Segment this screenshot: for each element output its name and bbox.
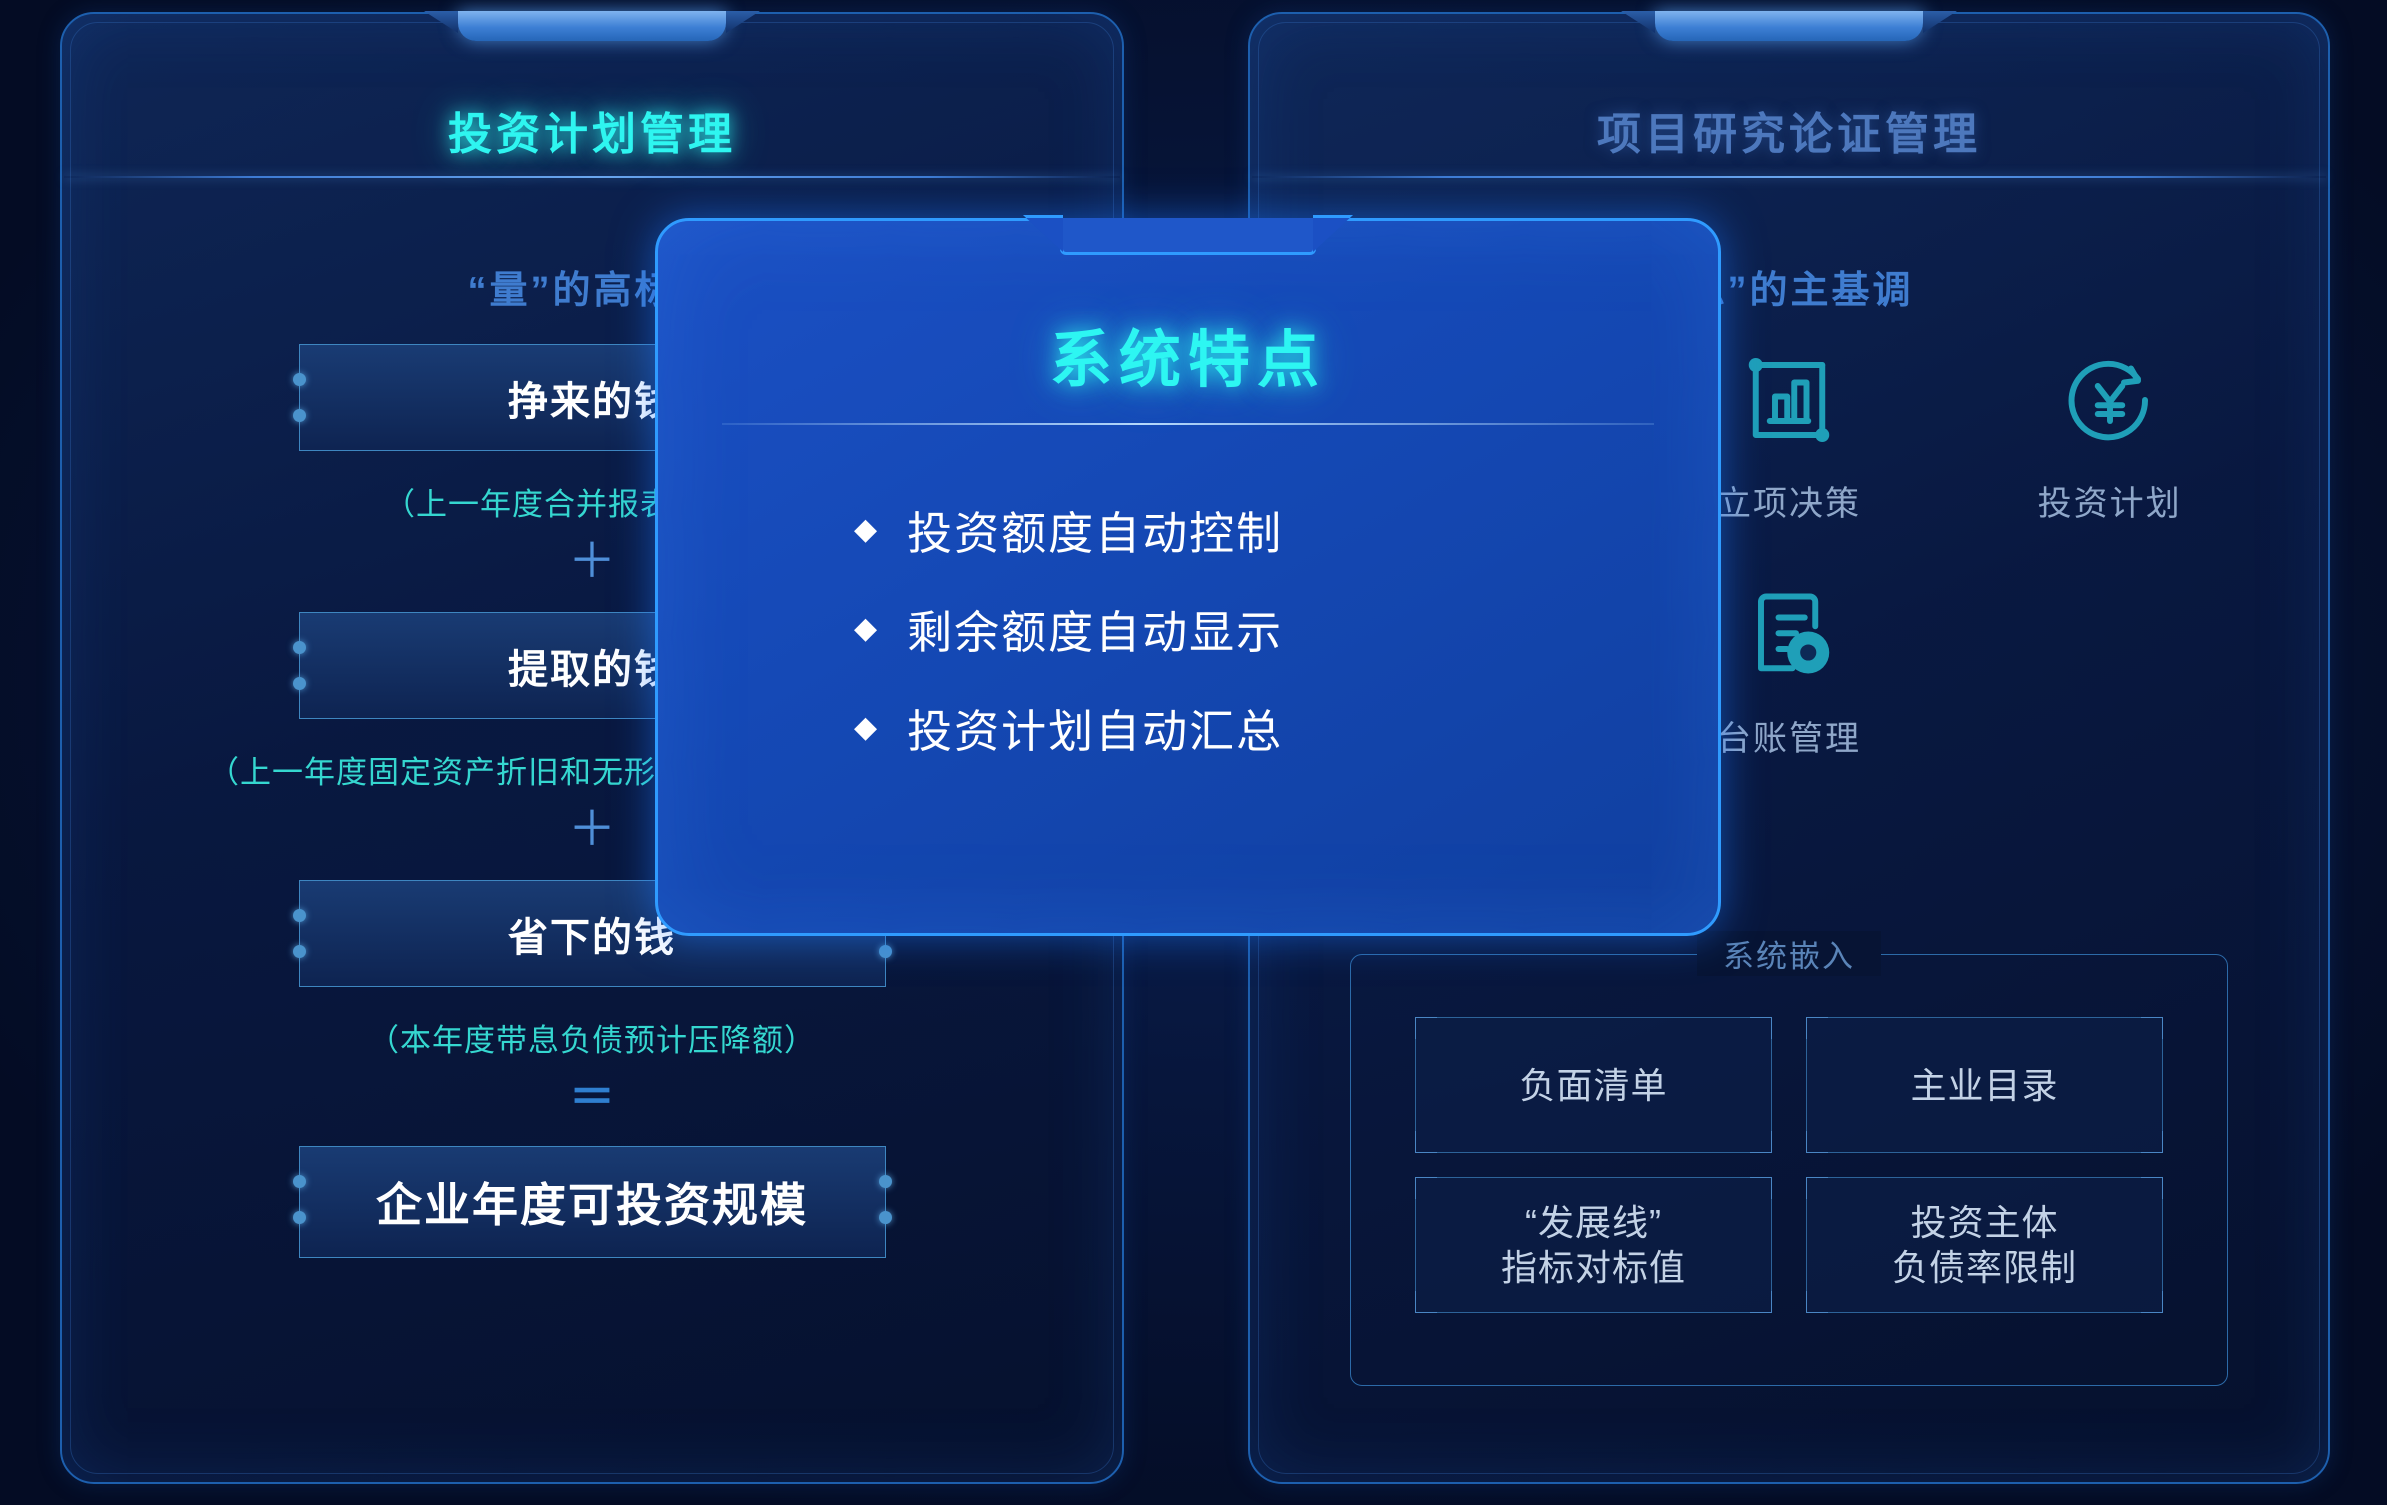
formula-box-label: 省下的钱: [508, 905, 676, 963]
embed-item-label-line1: “发展线”: [1525, 1202, 1662, 1243]
module-item-label: 台账管理: [1717, 711, 1861, 760]
system-embed-grid: 负面清单 主业目录 “发展线” 指标对标值: [1415, 1017, 2163, 1313]
modal-divider: [722, 423, 1654, 425]
box-dot-icon: [293, 373, 306, 386]
embed-item-label: 主业目录: [1910, 1063, 2058, 1108]
system-features-modal[interactable]: 系统特点 ◆ 投资额度自动控制 ◆ 剩余额度自动显示 ◆ 投资计划自动汇总: [655, 218, 1721, 936]
formula-box-label: 挣来的钱: [508, 369, 676, 427]
diamond-bullet-icon: ◆: [854, 515, 879, 545]
panel-top-notch-left: [458, 11, 726, 41]
embed-item-label: 负面清单: [1519, 1063, 1667, 1108]
bar-chart-frame-icon: [1733, 344, 1845, 456]
embed-item-label-line2: 负债率限制: [1892, 1247, 2077, 1288]
modal-feature-label: 剩余额度自动显示: [907, 596, 1283, 661]
box-dot-icon: [293, 1211, 306, 1224]
box-dot-icon: [293, 945, 306, 958]
module-item-label: 投资计划: [2038, 476, 2182, 525]
left-panel-title: 投资计划管理: [62, 98, 1122, 162]
left-panel-divider: [64, 176, 1120, 178]
module-item-label: 立项决策: [1717, 476, 1861, 525]
diamond-bullet-icon: ◆: [854, 713, 879, 743]
box-dot-icon: [879, 1175, 892, 1188]
box-dot-icon: [293, 409, 306, 422]
embed-item-label-line1: 投资主体: [1910, 1202, 2058, 1243]
formula-result-label: 企业年度可投资规模: [376, 1169, 808, 1235]
box-dot-icon: [293, 1175, 306, 1188]
system-embed-legend: 系统嵌入: [1697, 931, 1881, 976]
modal-feature-item: ◆ 投资额度自动控制: [854, 497, 1628, 562]
box-dot-icon: [879, 945, 892, 958]
modal-top-notch: [1060, 218, 1316, 255]
document-gear-icon: [1733, 579, 1845, 691]
formula-operator-equals: ＝: [62, 1074, 1122, 1120]
modal-feature-label: 投资计划自动汇总: [907, 695, 1283, 760]
box-dot-icon: [293, 909, 306, 922]
diamond-bullet-icon: ◆: [854, 614, 879, 644]
slide-canvas: 投资计划管理 “量”的高标准 挣来的钱 （上一年度合并报表净利润） ＋ 提取的钱…: [0, 0, 2387, 1505]
right-panel-divider: [1252, 176, 2326, 178]
system-embed-group: 系统嵌入 负面清单 主业目录 “发展线” 指标对: [1350, 954, 2228, 1386]
modal-feature-item: ◆ 投资计划自动汇总: [854, 695, 1628, 760]
embed-item-main-business-catalog[interactable]: 主业目录: [1806, 1017, 2163, 1153]
embed-item-investor-debt-ratio[interactable]: 投资主体 负债率限制: [1806, 1177, 2163, 1313]
embed-item-development-line[interactable]: “发展线” 指标对标值: [1415, 1177, 1772, 1313]
modal-feature-list: ◆ 投资额度自动控制 ◆ 剩余额度自动显示 ◆ 投资计划自动汇总: [854, 497, 1628, 794]
box-dot-icon: [879, 1211, 892, 1224]
embed-item-label-line2: 指标对标值: [1501, 1247, 1686, 1288]
formula-box-label: 提取的钱: [508, 637, 676, 695]
modal-feature-label: 投资额度自动控制: [907, 497, 1283, 562]
box-dot-icon: [293, 641, 306, 654]
module-item-investment-plan[interactable]: 投资计划: [1949, 344, 2270, 525]
embed-item-negative-list[interactable]: 负面清单: [1415, 1017, 1772, 1153]
right-panel-title: 项目研究论证管理: [1250, 98, 2328, 162]
modal-title: 系统特点: [658, 309, 1718, 399]
formula-box-result[interactable]: 企业年度可投资规模: [299, 1146, 886, 1258]
panel-top-notch-right: [1655, 11, 1923, 41]
formula-note-saved: （本年度带息负债预计压降额）: [62, 1015, 1122, 1060]
box-dot-icon: [293, 677, 306, 690]
yen-refresh-icon: [2054, 344, 2166, 456]
modal-feature-item: ◆ 剩余额度自动显示: [854, 596, 1628, 661]
